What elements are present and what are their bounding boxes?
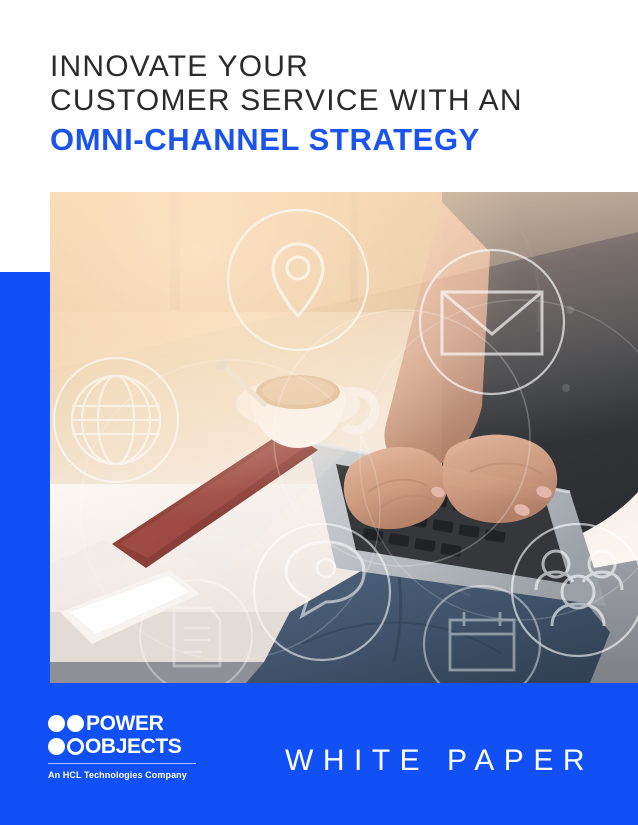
- white-paper-label: WHITE PAPER: [285, 744, 594, 778]
- title-line-2: CUSTOMER SERVICE WITH AN: [50, 84, 610, 118]
- logo-row-objects: OBJECTS: [48, 735, 198, 757]
- globe-icon: [54, 358, 178, 482]
- hero-photo-illustration: [50, 192, 638, 683]
- white-paper-cover-page: INNOVATE YOUR CUSTOMER SERVICE WITH AN O…: [0, 0, 638, 825]
- logo-dot-filled-2: [67, 715, 84, 732]
- hero-photograph: [50, 192, 638, 683]
- cover-title-block: INNOVATE YOUR CUSTOMER SERVICE WITH AN O…: [50, 50, 610, 160]
- logo-divider-rule: [48, 763, 196, 764]
- logo-tagline: An HCL Technologies Company: [48, 769, 198, 781]
- logo-dot-outline-1: [67, 738, 84, 755]
- powerobjects-logo: POWER OBJECTS An HCL Technologies Compan…: [48, 712, 198, 781]
- logo-dot-filled-1: [48, 715, 65, 732]
- left-blue-accent-block: [0, 272, 50, 683]
- logo-word-objects: OBJECTS: [85, 736, 181, 757]
- logo-row-power: POWER: [48, 712, 198, 734]
- logo-word-power: POWER: [86, 713, 163, 734]
- title-line-3-accent: OMNI-CHANNEL STRATEGY: [50, 120, 610, 160]
- title-line-1: INNOVATE YOUR: [50, 50, 610, 84]
- logo-dot-filled-3: [48, 738, 65, 755]
